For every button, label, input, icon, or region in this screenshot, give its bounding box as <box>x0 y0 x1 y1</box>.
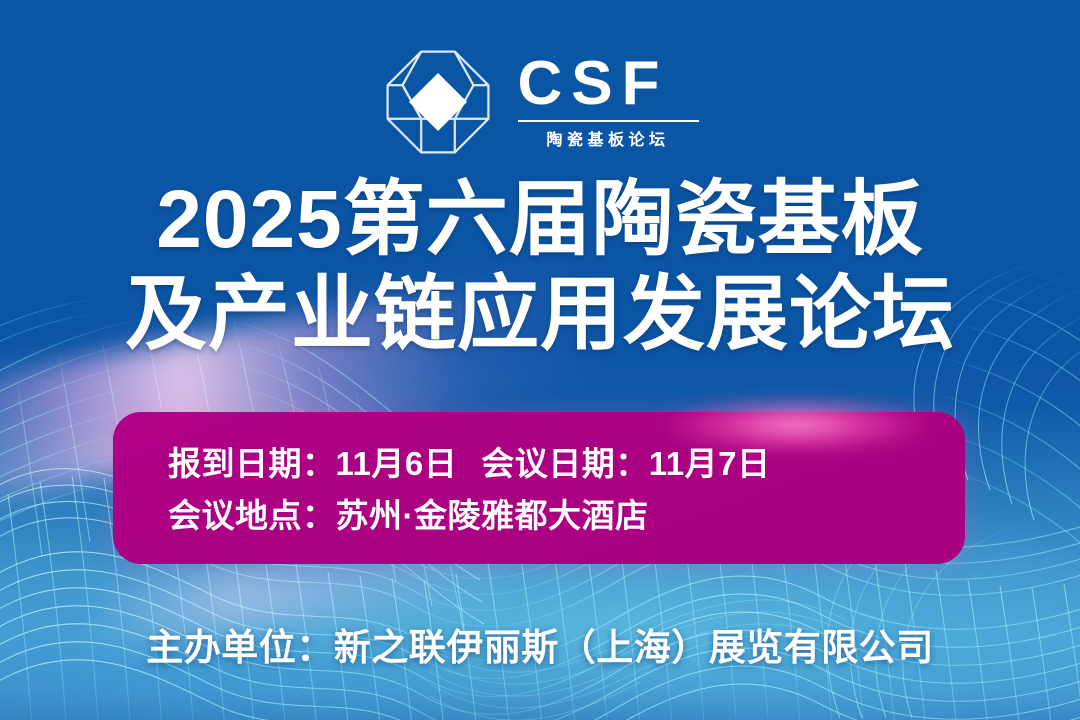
venue-row: 会议地点：苏州·金陵雅都大酒店 <box>168 490 965 542</box>
meeting-date-label: 会议日期： <box>481 445 649 482</box>
meeting-date-value: 11月7日 <box>649 445 771 482</box>
poster-canvas: CSF 陶瓷基板论坛 2025第六届陶瓷基板 及产业链应用发展论坛 报到日期：1… <box>0 0 1080 720</box>
logo-wordmark: CSF 陶瓷基板论坛 <box>516 54 699 150</box>
logo-subtitle: 陶瓷基板论坛 <box>516 126 699 150</box>
venue-label: 会议地点： <box>168 497 336 534</box>
octagon-diamond-icon <box>382 46 494 158</box>
title-line-2: 及产业链应用发展论坛 <box>0 267 1080 362</box>
logo-acronym: CSF <box>516 54 699 115</box>
event-info-rows: 报到日期：11月6日会议日期：11月7日 会议地点：苏州·金陵雅都大酒店 <box>113 412 965 564</box>
venue-value: 苏州·金陵雅都大酒店 <box>336 497 649 534</box>
title-line-1: 2025第六届陶瓷基板 <box>0 172 1080 267</box>
checkin-date-value: 11月6日 <box>336 445 458 482</box>
page-title: 2025第六届陶瓷基板 及产业链应用发展论坛 <box>0 172 1080 362</box>
organizer-line: 主办单位：新之联伊丽斯（上海）展览有限公司 <box>0 617 1080 671</box>
dates-row: 报到日期：11月6日会议日期：11月7日 <box>168 438 965 490</box>
event-info-band: 报到日期：11月6日会议日期：11月7日 会议地点：苏州·金陵雅都大酒店 <box>113 412 965 564</box>
logo-divider <box>518 120 699 122</box>
brand-logo: CSF 陶瓷基板论坛 <box>0 46 1080 158</box>
checkin-date-label: 报到日期： <box>168 445 336 482</box>
